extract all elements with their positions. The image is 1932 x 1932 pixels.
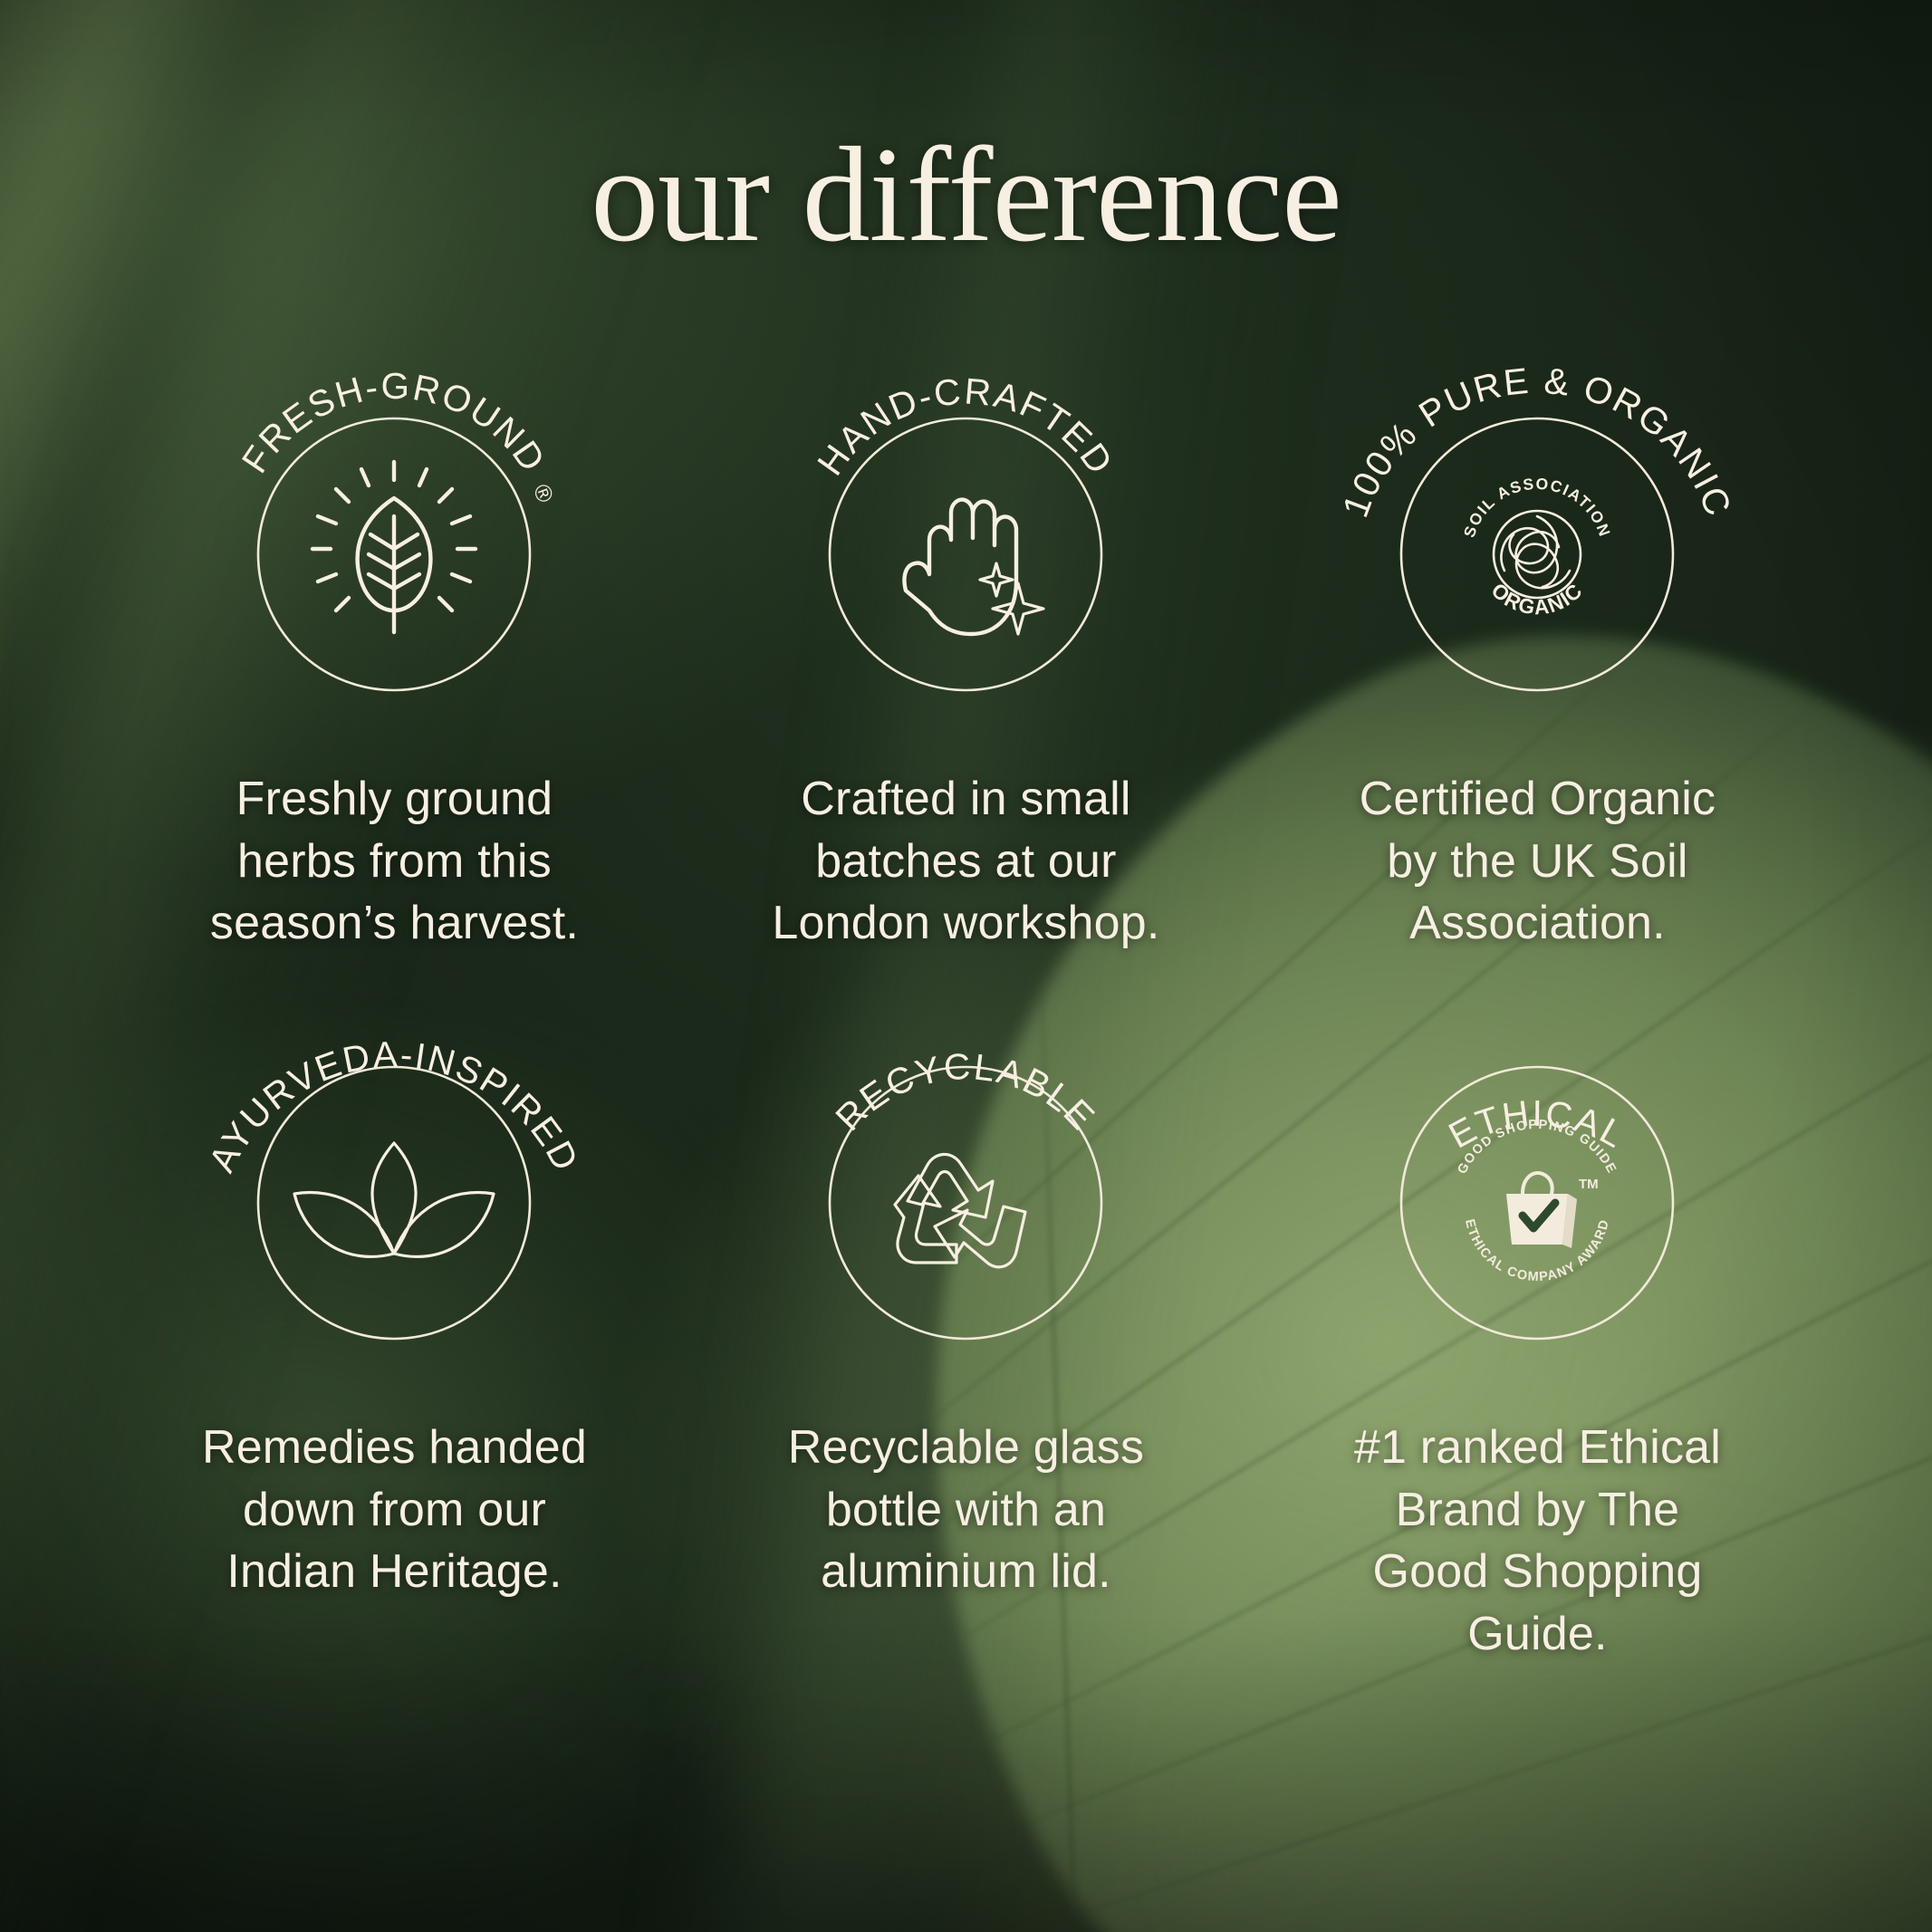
registered-trademark-icon: ®	[528, 480, 561, 507]
benefit-ayurveda-inspired: AYURVEDA-INSPIRED Remedies handed down f…	[109, 993, 680, 1666]
hand-sparkle-icon	[905, 500, 1044, 634]
lotus-leaf-icon	[294, 1143, 494, 1256]
recycling-arrows-icon	[895, 1154, 1025, 1266]
benefits-row-bottom: AYURVEDA-INSPIRED Remedies handed down f…	[109, 993, 1823, 1666]
benefit-caption: Freshly ground herbs from this season’s …	[199, 768, 589, 955]
benefit-ethical: ETHICAL GOOD SHOPPING GUIDE ETHICAL COMP…	[1252, 993, 1823, 1666]
badge-ethical: ETHICAL GOOD SHOPPING GUIDE ETHICAL COMP…	[1338, 993, 1736, 1391]
benefits-row-top: FRESH-GROUND ®	[109, 344, 1823, 955]
benefit-pure-organic: 100% PURE & ORGANIC SOIL ASSOCIATION ORG…	[1252, 344, 1823, 955]
badge-pure-organic: 100% PURE & ORGANIC SOIL ASSOCIATION ORG…	[1338, 344, 1736, 743]
badge-arc-label: 100% PURE & ORGANIC	[1334, 360, 1741, 523]
badge-recyclable: RECYCLABLE	[766, 993, 1165, 1391]
benefit-recyclable: RECYCLABLE Recyclable glass bottle with …	[680, 993, 1252, 1666]
badge-arc-label: AYURVEDA-INSPIRED	[201, 1033, 588, 1178]
benefit-caption: Recyclable glass bottle with an aluminiu…	[771, 1417, 1160, 1603]
badge-hand-crafted: HAND-CRAFTED	[766, 344, 1165, 743]
benefit-caption: #1 ranked Ethical Brand by The Good Shop…	[1342, 1417, 1732, 1666]
leaf-sunburst-icon	[312, 462, 476, 632]
benefit-caption: Certified Organic by the UK Soil Associa…	[1342, 768, 1732, 955]
benefit-hand-crafted: HAND-CRAFTED Crafted in small batches at…	[680, 344, 1252, 955]
badge-ayurveda-inspired: AYURVEDA-INSPIRED	[195, 993, 593, 1391]
soil-association-organic-icon: SOIL ASSOCIATION ORGANIC	[1460, 475, 1615, 620]
benefit-fresh-ground: FRESH-GROUND ®	[109, 344, 680, 955]
badge-arc-label: RECYCLABLE	[828, 1045, 1104, 1139]
benefit-caption: Remedies handed down from our Indian Her…	[199, 1417, 589, 1603]
benefit-caption: Crafted in small batches at our London w…	[771, 768, 1160, 955]
good-shopping-guide-icon: GOOD SHOPPING GUIDE ETHICAL COMPANY AWAR…	[1456, 1118, 1620, 1284]
badge-arc-label: HAND-CRAFTED	[810, 370, 1123, 483]
badge-fresh-ground: FRESH-GROUND ®	[195, 344, 593, 743]
page-title: our difference	[0, 127, 1932, 263]
gsg-trademark-icon: TM	[1579, 1177, 1599, 1192]
benefits-grid: FRESH-GROUND ®	[109, 344, 1823, 1665]
